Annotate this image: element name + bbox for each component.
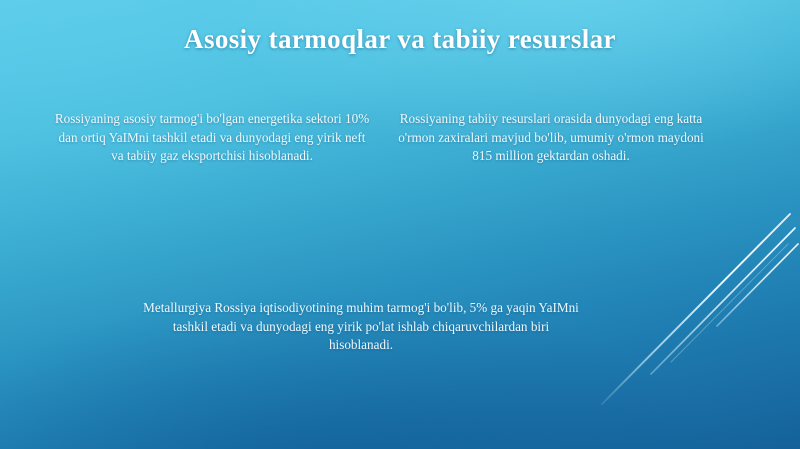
streak-line-long [602,214,790,404]
slide-canvas: Asosiy tarmoqlar va tabiiy resurslar Ros… [0,0,800,449]
slide-title: Asosiy tarmoqlar va tabiiy resurslar [0,24,800,55]
text-block-natural-resources: Rossiyaning tabiiy resurslari orasida du… [392,110,710,166]
text-block-energy-sector: Rossiyaning asosiy tarmog'i bo'lgan ener… [52,110,372,166]
streak-line-mid [651,228,795,374]
streak-line-group [602,214,798,404]
streak-line-faint [671,244,788,362]
text-block-metallurgy: Metallurgiya Rossiya iqtisodiyotining mu… [142,299,580,355]
decorative-diagonal-streaks [0,0,800,449]
streak-line-short [717,244,798,326]
